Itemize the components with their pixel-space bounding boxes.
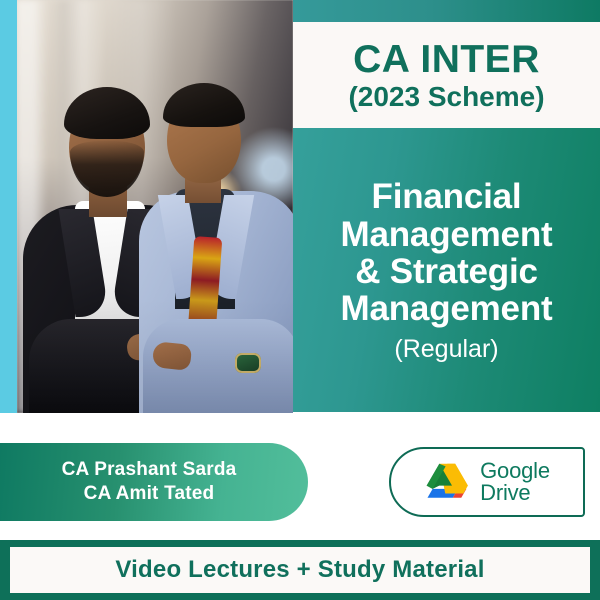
subject-panel: Financial Management & Strategic Managem… [293, 128, 600, 412]
person-right-watch [235, 353, 261, 373]
footer-banner: Video Lectures + Study Material [0, 540, 600, 600]
google-drive-icon [424, 462, 470, 503]
faculty-photo [17, 0, 293, 413]
footer-banner-inner: Video Lectures + Study Material [10, 547, 590, 593]
subject-title-line-1: Financial [341, 178, 553, 215]
subject-title-line-3: & Strategic [341, 253, 553, 290]
person-right-hair [163, 83, 245, 127]
faculty-names-pill: CA Prashant Sarda CA Amit Tated [0, 443, 308, 521]
google-drive-label-line-2: Drive [480, 482, 550, 504]
person-left-beard [70, 141, 144, 197]
top-teal-bar [293, 0, 600, 22]
exam-title: CA INTER [353, 40, 540, 79]
subject-title-line-4: Management [341, 290, 553, 327]
faculty-name-1: CA Prashant Sarda [62, 458, 237, 482]
exam-header: CA INTER (2023 Scheme) [293, 22, 600, 128]
footer-banner-text: Video Lectures + Study Material [115, 556, 484, 584]
faculty-person-right [139, 61, 293, 413]
subject-title: Financial Management & Strategic Managem… [341, 178, 553, 328]
google-drive-label-line-1: Google [480, 460, 550, 482]
subject-title-line-2: Management [341, 216, 553, 253]
google-drive-label: Google Drive [480, 460, 550, 505]
exam-scheme: (2023 Scheme) [348, 83, 544, 111]
person-left-hair [64, 87, 150, 139]
subject-variant: (Regular) [394, 337, 498, 362]
course-poster: CA INTER (2023 Scheme) Financial Managem… [0, 0, 600, 600]
left-accent-stripe [0, 0, 17, 413]
faculty-name-2: CA Amit Tated [84, 482, 215, 506]
google-drive-badge[interactable]: Google Drive [389, 447, 585, 517]
